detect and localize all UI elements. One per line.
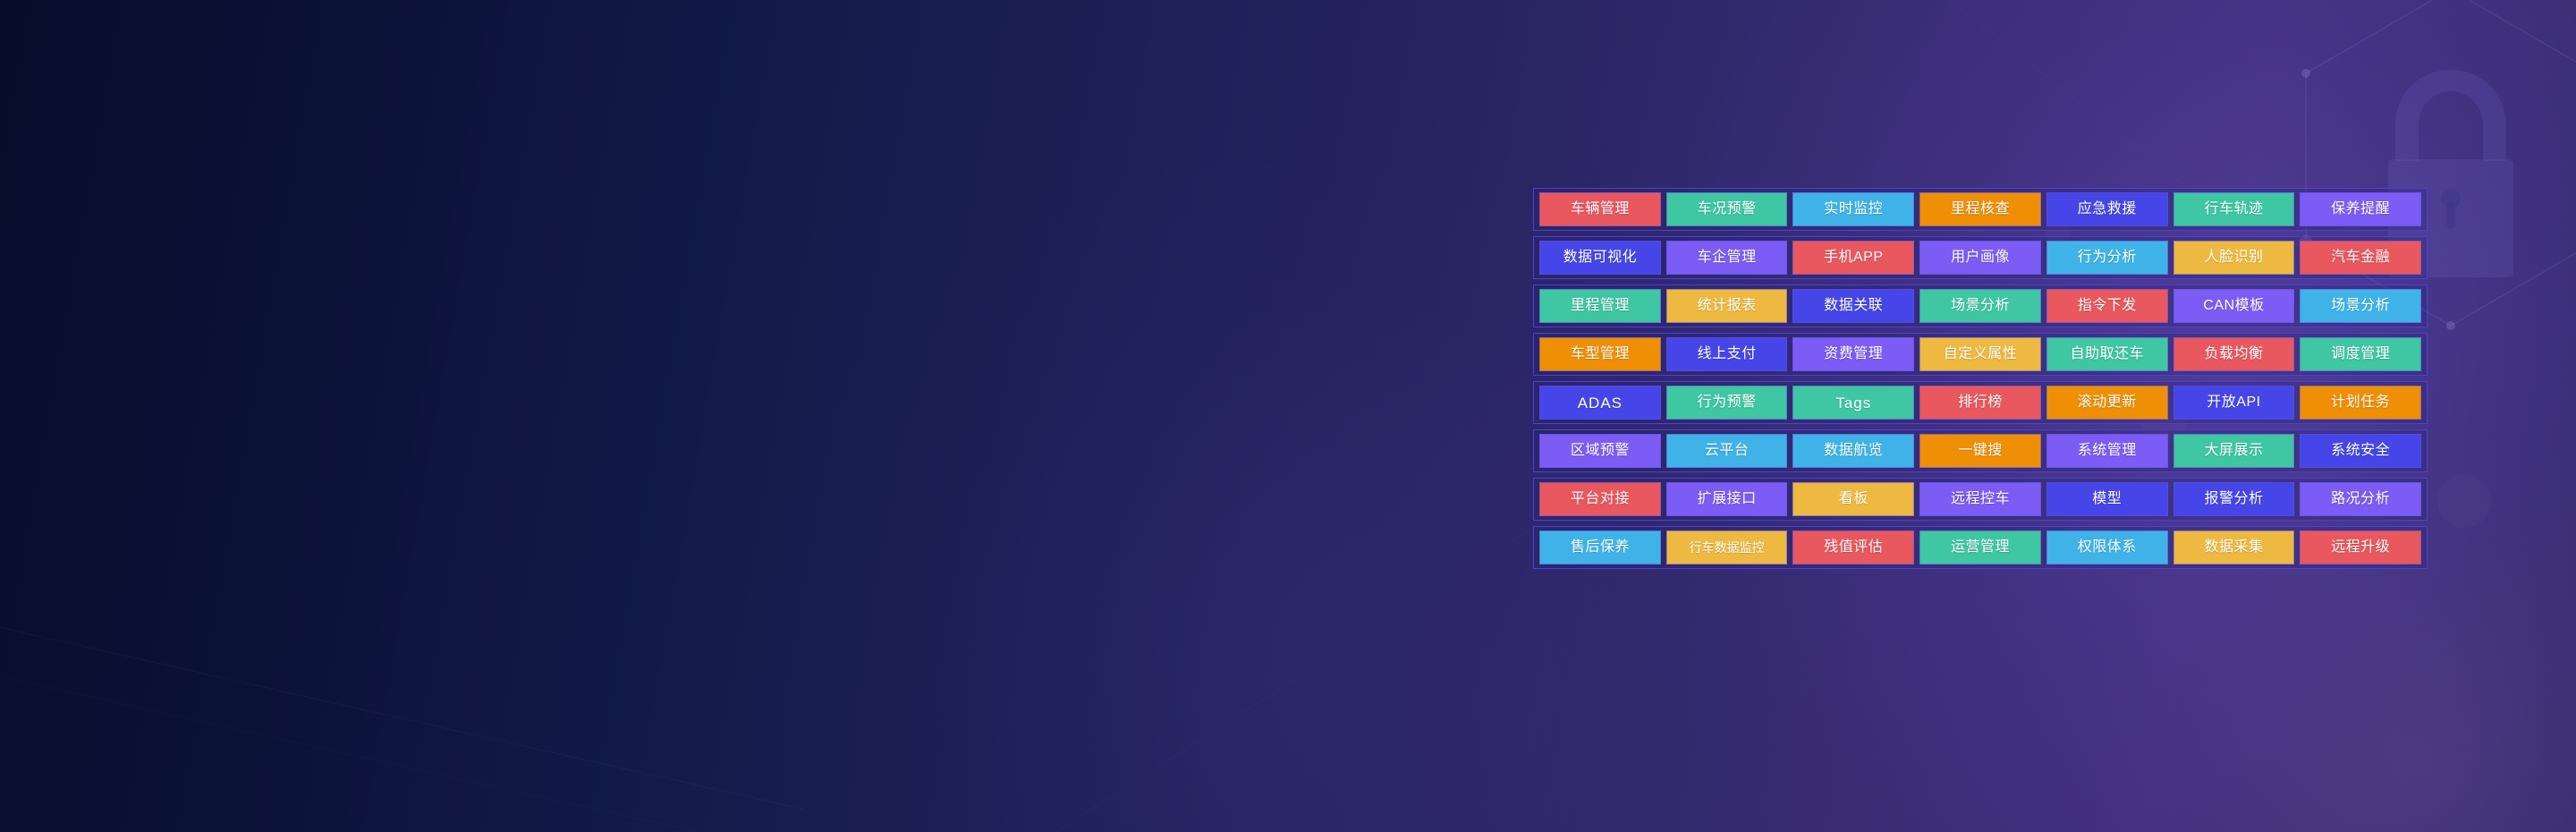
- feature-tile-排行榜[interactable]: 排行榜: [1919, 386, 2041, 420]
- feature-tile-手机APP[interactable]: 手机APP: [1792, 241, 1914, 275]
- feature-row: 里程管理统计报表数据关联场景分析指令下发CAN模板场景分析: [1533, 284, 2428, 327]
- feature-tile-行车数据监控[interactable]: 行车数据监控: [1666, 531, 1788, 565]
- feature-tile-label: 远程控车: [1951, 492, 2010, 506]
- feature-tile-label: 数据采集: [2204, 540, 2263, 555]
- feature-tile-label: 行车数据监控: [1690, 541, 1765, 554]
- feature-tile-Tags[interactable]: Tags: [1792, 386, 1914, 420]
- feature-tile-售后保养[interactable]: 售后保养: [1539, 531, 1661, 565]
- feature-tile-label: 远程升级: [2331, 540, 2390, 555]
- feature-tile-label: 线上支付: [1698, 347, 1757, 361]
- feature-tile-场景分析[interactable]: 场景分析: [2300, 289, 2421, 323]
- feature-tile-label: 车企管理: [1698, 250, 1757, 265]
- feature-tile-label: 一键搜: [1958, 444, 2003, 458]
- feature-tile-扩展接口[interactable]: 扩展接口: [1666, 482, 1788, 516]
- feature-row: 车辆管理车况预警实时监控里程核查应急救援行车轨迹保养提醒: [1533, 188, 2428, 231]
- feature-tile-人脸识别[interactable]: 人脸识别: [2173, 241, 2295, 275]
- feature-tile-label: 数据关联: [1824, 299, 1883, 313]
- feature-tile-label: 系统管理: [2078, 444, 2137, 458]
- feature-row: 售后保养行车数据监控残值评估运营管理权限体系数据采集远程升级: [1533, 526, 2428, 569]
- feature-tile-自助取还车[interactable]: 自助取还车: [2046, 337, 2168, 371]
- feature-tile-看板[interactable]: 看板: [1792, 482, 1914, 516]
- feature-tile-label: 场景分析: [1951, 299, 2010, 313]
- page-background: 车辆管理车况预警实时监控里程核查应急救援行车轨迹保养提醒数据可视化车企管理手机A…: [0, 0, 2576, 832]
- feature-tile-远程控车[interactable]: 远程控车: [1919, 482, 2041, 516]
- feature-tile-label: 行车轨迹: [2204, 202, 2263, 216]
- feature-tile-里程管理[interactable]: 里程管理: [1539, 289, 1661, 323]
- feature-tile-线上支付[interactable]: 线上支付: [1666, 337, 1788, 371]
- feature-tile-指令下发[interactable]: 指令下发: [2046, 289, 2168, 323]
- feature-tile-label: 模型: [2092, 492, 2122, 506]
- feature-tile-label: 云平台: [1705, 444, 1750, 458]
- feature-tile-label: 自助取还车: [2070, 347, 2144, 361]
- feature-tile-一键搜[interactable]: 一键搜: [1919, 434, 2041, 468]
- feature-tile-计划任务[interactable]: 计划任务: [2300, 386, 2421, 420]
- feature-tile-行车轨迹[interactable]: 行车轨迹: [2173, 192, 2295, 226]
- feature-tile-label: 场景分析: [2331, 299, 2390, 313]
- feature-tile-行为分析[interactable]: 行为分析: [2046, 241, 2168, 275]
- feature-tile-区域预警[interactable]: 区域预警: [1539, 434, 1661, 468]
- feature-tile-label: 开放API: [2207, 395, 2260, 410]
- feature-tile-label: 应急救援: [2078, 202, 2137, 216]
- feature-tile-用户画像[interactable]: 用户画像: [1919, 241, 2041, 275]
- feature-tile-label: 实时监控: [1824, 202, 1883, 216]
- feature-tile-label: 数据可视化: [1563, 250, 1638, 265]
- feature-tile-label: 看板: [1839, 492, 1868, 506]
- feature-tile-数据可视化[interactable]: 数据可视化: [1539, 241, 1661, 275]
- feature-tile-label: 行为预警: [1698, 395, 1757, 410]
- feature-tile-label: 路况分析: [2331, 492, 2390, 506]
- feature-tile-label: ADAS: [1578, 395, 1623, 411]
- feature-tile-label: 车型管理: [1571, 347, 1630, 361]
- feature-tile-系统管理[interactable]: 系统管理: [2046, 434, 2168, 468]
- feature-tile-汽车金融[interactable]: 汽车金融: [2300, 241, 2421, 275]
- feature-tile-资费管理[interactable]: 资费管理: [1792, 337, 1914, 371]
- feature-tile-路况分析[interactable]: 路况分析: [2300, 482, 2421, 516]
- feature-tile-label: 排行榜: [1958, 395, 2003, 410]
- feature-row: 数据可视化车企管理手机APP用户画像行为分析人脸识别汽车金融: [1533, 236, 2428, 279]
- feature-tile-场景分析[interactable]: 场景分析: [1919, 289, 2041, 323]
- feature-tile-大屏展示[interactable]: 大屏展示: [2173, 434, 2295, 468]
- feature-row: 平台对接扩展接口看板远程控车模型报警分析路况分析: [1533, 478, 2428, 521]
- feature-tile-label: 指令下发: [2078, 299, 2137, 313]
- feature-tile-label: 负载均衡: [2204, 347, 2263, 361]
- feature-tile-label: 残值评估: [1824, 540, 1883, 555]
- feature-tile-数据采集[interactable]: 数据采集: [2173, 531, 2295, 565]
- feature-tile-报警分析[interactable]: 报警分析: [2173, 482, 2295, 516]
- feature-tile-CAN模板[interactable]: CAN模板: [2173, 289, 2295, 323]
- feature-tile-实时监控[interactable]: 实时监控: [1792, 192, 1914, 226]
- feature-tile-label: 系统安全: [2331, 444, 2390, 458]
- feature-tile-label: 统计报表: [1698, 299, 1757, 313]
- feature-tile-label: CAN模板: [2203, 299, 2264, 313]
- feature-tile-云平台[interactable]: 云平台: [1666, 434, 1788, 468]
- feature-tile-label: 汽车金融: [2331, 250, 2390, 265]
- feature-row: 区域预警云平台数据航览一键搜系统管理大屏展示系统安全: [1533, 429, 2428, 472]
- feature-tile-里程核查[interactable]: 里程核查: [1919, 192, 2041, 226]
- feature-tile-数据关联[interactable]: 数据关联: [1792, 289, 1914, 323]
- feature-tile-label: 里程核查: [1951, 202, 2010, 216]
- feature-tile-label: 资费管理: [1824, 347, 1883, 361]
- feature-tag-grid: 车辆管理车况预警实时监控里程核查应急救援行车轨迹保养提醒数据可视化车企管理手机A…: [1533, 188, 2428, 569]
- feature-row: ADAS行为预警Tags排行榜滚动更新开放API计划任务: [1533, 381, 2428, 424]
- feature-tile-label: 售后保养: [1571, 540, 1630, 555]
- feature-tile-label: 平台对接: [1571, 492, 1630, 506]
- feature-tile-开放API[interactable]: 开放API: [2173, 386, 2295, 420]
- feature-tile-统计报表[interactable]: 统计报表: [1666, 289, 1788, 323]
- feature-tile-label: 大屏展示: [2204, 444, 2263, 458]
- feature-tile-车型管理[interactable]: 车型管理: [1539, 337, 1661, 371]
- feature-tile-系统安全[interactable]: 系统安全: [2300, 434, 2421, 468]
- feature-tile-label: 人脸识别: [2204, 250, 2263, 265]
- feature-tile-平台对接[interactable]: 平台对接: [1539, 482, 1661, 516]
- feature-tile-label: 车况预警: [1698, 202, 1757, 216]
- feature-tile-label: 保养提醒: [2331, 202, 2390, 216]
- feature-tile-应急救援[interactable]: 应急救援: [2046, 192, 2168, 226]
- feature-tile-车企管理[interactable]: 车企管理: [1666, 241, 1788, 275]
- feature-tile-label: 调度管理: [2331, 347, 2390, 361]
- feature-tile-label: 行为分析: [2078, 250, 2137, 265]
- feature-tile-label: 权限体系: [2078, 540, 2137, 555]
- feature-tile-权限体系[interactable]: 权限体系: [2046, 531, 2168, 565]
- feature-tile-label: 区域预警: [1571, 444, 1630, 458]
- feature-tile-残值评估[interactable]: 残值评估: [1792, 531, 1914, 565]
- feature-tile-保养提醒[interactable]: 保养提醒: [2300, 192, 2421, 226]
- feature-tile-滚动更新[interactable]: 滚动更新: [2046, 386, 2168, 420]
- feature-tile-label: 扩展接口: [1698, 492, 1757, 506]
- feature-tile-label: 计划任务: [2331, 395, 2390, 410]
- feature-tile-运营管理[interactable]: 运营管理: [1919, 531, 2041, 565]
- feature-tile-label: 用户画像: [1951, 250, 2010, 265]
- feature-tile-label: 运营管理: [1951, 540, 2010, 555]
- feature-tile-ADAS[interactable]: ADAS: [1539, 386, 1661, 420]
- feature-tile-label: 滚动更新: [2078, 395, 2137, 410]
- feature-tile-车辆管理[interactable]: 车辆管理: [1539, 192, 1661, 226]
- feature-tile-行为预警[interactable]: 行为预警: [1666, 386, 1788, 420]
- feature-tile-label: Tags: [1835, 395, 1871, 411]
- feature-tile-远程升级[interactable]: 远程升级: [2300, 531, 2421, 565]
- feature-tile-车况预警[interactable]: 车况预警: [1666, 192, 1788, 226]
- feature-tile-label: 自定义属性: [1944, 347, 2018, 361]
- feature-tile-模型[interactable]: 模型: [2046, 482, 2168, 516]
- feature-tile-自定义属性[interactable]: 自定义属性: [1919, 337, 2041, 371]
- feature-tile-调度管理[interactable]: 调度管理: [2300, 337, 2421, 371]
- feature-tile-label: 数据航览: [1824, 444, 1883, 458]
- feature-tile-label: 里程管理: [1571, 299, 1630, 313]
- feature-row: 车型管理线上支付资费管理自定义属性自助取还车负载均衡调度管理: [1533, 333, 2428, 376]
- feature-tile-label: 手机APP: [1824, 250, 1884, 265]
- feature-tile-label: 报警分析: [2204, 492, 2263, 506]
- feature-tile-负载均衡[interactable]: 负载均衡: [2173, 337, 2295, 371]
- feature-tile-数据航览[interactable]: 数据航览: [1792, 434, 1914, 468]
- feature-tile-label: 车辆管理: [1571, 202, 1630, 216]
